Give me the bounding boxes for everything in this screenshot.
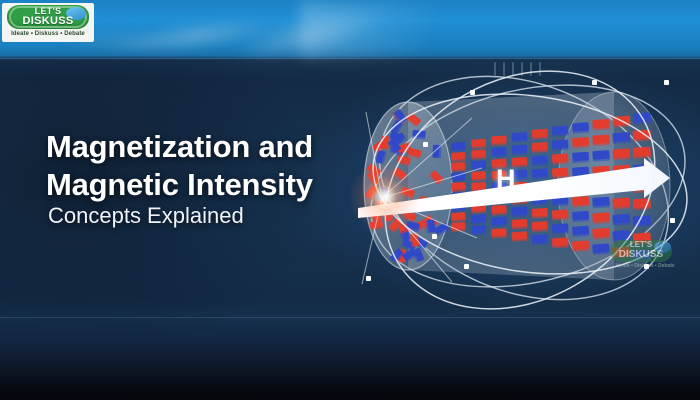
dipole-block (633, 147, 652, 159)
logo-line2: DISKUSS (7, 15, 89, 27)
dipole-block (491, 228, 507, 239)
dipole-block (426, 219, 436, 233)
page-subtitle: Concepts Explained (48, 202, 378, 230)
magnetized-cylinder-illustration: H LET'S DISKUSS Ideate • Diskuss • Debat… (352, 58, 700, 320)
dipole-block (451, 162, 466, 172)
dipole-block (572, 211, 589, 222)
banner-image: LET'S DISKUSS Ideate • Diskuss • Debate … (0, 0, 700, 400)
field-label-h: H (496, 164, 516, 195)
dipole-block (592, 212, 610, 224)
dipole-block (612, 214, 630, 226)
dipole-block (552, 139, 569, 150)
dipole-block (471, 139, 486, 149)
dipole-block (532, 221, 548, 232)
dipole-block (552, 125, 569, 136)
dipole-block (552, 209, 569, 220)
dipole-block (612, 148, 630, 160)
dipole-block (451, 212, 466, 222)
dipole-block (511, 144, 527, 155)
dipole-block (491, 205, 507, 216)
logo-badge: LET'S DISKUSS (7, 5, 89, 29)
dipole-block (572, 240, 589, 251)
page-title: Magnetization and Magnetic Intensity (46, 128, 376, 204)
dipole-block (451, 142, 466, 152)
dipole-block (532, 234, 548, 245)
dipole-block (592, 228, 610, 240)
dipole-block (592, 119, 610, 131)
dipole-block (532, 142, 548, 153)
dipole-block (552, 237, 569, 248)
dipole-block (552, 153, 569, 164)
watermark-line2: DISKUSS (610, 249, 672, 260)
dipole-block (572, 137, 589, 148)
dipole-block (471, 225, 486, 235)
dipole-block (592, 134, 610, 146)
dipole-block (572, 122, 589, 133)
logo-tagline: Ideate • Diskuss • Debate (2, 31, 94, 37)
dipole-block (471, 214, 486, 224)
dipole-block (592, 150, 610, 162)
dipole-block (592, 243, 610, 255)
dipole-block (511, 206, 527, 217)
dipole-block (552, 167, 569, 178)
dipole-block (572, 196, 589, 207)
dipole-block (532, 129, 548, 140)
dipole-block (592, 197, 610, 209)
watermark-tagline: Ideate • Diskuss • Debate (610, 263, 680, 269)
dipole-block (532, 208, 548, 219)
dipole-block (572, 226, 589, 237)
watermark-logo: LET'S DISKUSS Ideate • Diskuss • Debate (610, 240, 684, 274)
dipole-block (612, 197, 630, 209)
dipole-block (532, 168, 548, 179)
dipole-block (511, 219, 527, 230)
dipole-block (572, 152, 589, 163)
dipole-block (471, 171, 486, 181)
dipole-block (451, 182, 466, 192)
dipole-block (491, 217, 507, 228)
dipole-block (612, 132, 630, 144)
dipole-block (532, 155, 548, 166)
dipole-block (511, 231, 527, 242)
dipole-block (552, 223, 569, 234)
dipole-block (471, 149, 486, 159)
brand-logo[interactable]: LET'S DISKUSS Ideate • Diskuss • Debate (2, 3, 94, 42)
dipole-block (511, 132, 527, 143)
dipole-block (451, 152, 466, 162)
watermark-line1: LET'S (610, 240, 672, 249)
dipole-block (491, 147, 507, 158)
cylinder-svg (352, 58, 700, 320)
dipole-block (491, 135, 507, 146)
